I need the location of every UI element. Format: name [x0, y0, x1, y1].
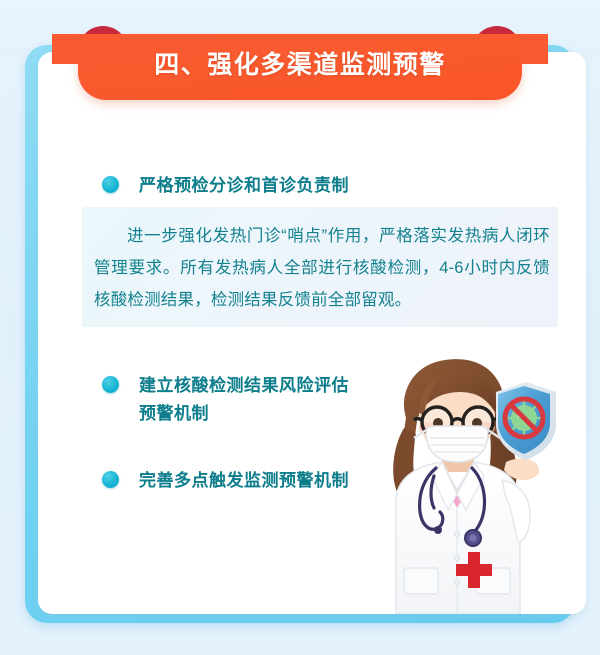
doctor-illustration	[368, 352, 558, 614]
bullet-item-2: 建立核酸检测结果风险评估 预警机制	[102, 372, 349, 428]
content-card: 进一步强化发热门诊“哨点”作用，严格落实发热病人闭环管理要求。所有发热病人全部进…	[38, 52, 586, 614]
doctor-coat	[396, 462, 520, 614]
paragraph-panel: 进一步强化发热门诊“哨点”作用，严格落实发热病人闭环管理要求。所有发热病人全部进…	[82, 207, 558, 327]
bullet-label-3: 完善多点触发监测预警机制	[139, 467, 349, 495]
bullet-dot-icon	[102, 376, 119, 393]
bullet-line-1a: 严格预检分诊和首诊负责制	[139, 176, 349, 195]
bullet-item-3: 完善多点触发监测预警机制	[102, 467, 349, 495]
bullet-line-2b: 预警机制	[139, 400, 349, 428]
ribbon-body: 四、强化多渠道监测预警	[78, 34, 522, 100]
bullet-line-2a: 建立核酸检测结果风险评估	[139, 376, 349, 395]
doctor-face-mask-icon	[414, 426, 500, 462]
bullet-line-3a: 完善多点触发监测预警机制	[139, 471, 349, 490]
page-title: 四、强化多渠道监测预警	[78, 34, 522, 100]
card-content: 进一步强化发热门诊“哨点”作用，严格落实发热病人闭环管理要求。所有发热病人全部进…	[38, 52, 586, 614]
bullet-dot-icon	[102, 471, 119, 488]
bullet-dot-icon	[102, 176, 119, 193]
paragraph-text: 进一步强化发热门诊“哨点”作用，严格落实发热病人闭环管理要求。所有发热病人全部进…	[94, 220, 550, 316]
header-ribbon: 四、强化多渠道监测预警	[0, 26, 600, 100]
bullet-label-2: 建立核酸检测结果风险评估 预警机制	[139, 372, 349, 428]
bullet-item-1: 严格预检分诊和首诊负责制	[102, 172, 349, 200]
infographic-page: 进一步强化发热门诊“哨点”作用，严格落实发热病人闭环管理要求。所有发热病人全部进…	[0, 0, 600, 655]
bullet-label-1: 严格预检分诊和首诊负责制	[139, 172, 349, 200]
